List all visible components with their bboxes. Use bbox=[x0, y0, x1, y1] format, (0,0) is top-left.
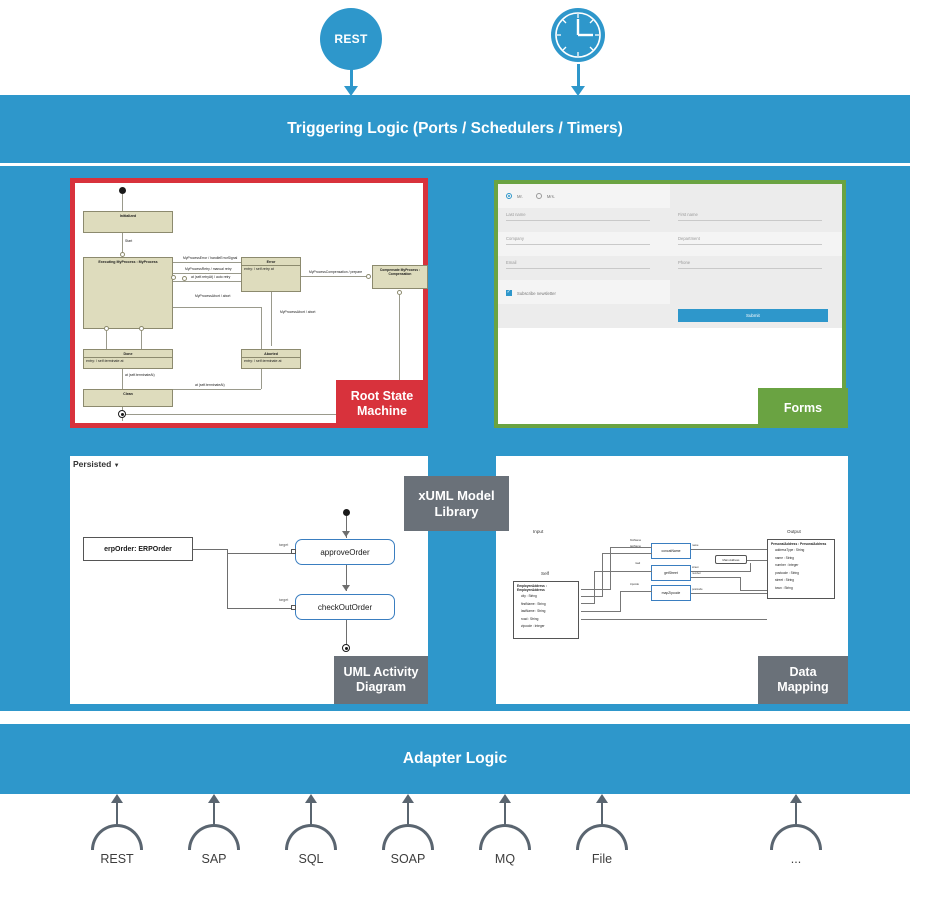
triggering-logic-band: Triggering Logic (Ports / Schedulers / T… bbox=[0, 95, 910, 163]
submit-button[interactable]: Submit bbox=[678, 309, 828, 322]
sm-edge bbox=[141, 331, 142, 349]
mapping-pin-label: lastName bbox=[630, 545, 641, 548]
activity-initial-node-icon bbox=[343, 509, 350, 516]
mapping-operation-concatname[interactable]: concatName bbox=[651, 543, 691, 559]
adapter-arc-icon bbox=[382, 824, 434, 850]
tag-uml-line2: Diagram bbox=[356, 680, 406, 694]
tag-lib-line2: Library bbox=[434, 504, 478, 519]
sm-edge bbox=[261, 307, 262, 389]
timer-trigger-arrow-icon bbox=[571, 64, 585, 96]
adapter-label: SAP bbox=[177, 852, 251, 866]
mapping-edge bbox=[620, 591, 652, 592]
activity-edge bbox=[227, 553, 293, 554]
sm-edge bbox=[173, 281, 241, 282]
sm-edge bbox=[271, 292, 272, 346]
sm-junction bbox=[366, 274, 371, 279]
sm-edge bbox=[173, 273, 241, 274]
state-done: Done entry: / self.terminate at bbox=[83, 349, 173, 369]
tag-lib-line1: xUML Model bbox=[418, 488, 494, 503]
mapping-pin-label: postcode bbox=[692, 588, 703, 591]
transition-start: Start bbox=[125, 239, 132, 243]
adapter-arc-icon bbox=[576, 824, 628, 850]
mapping-edge bbox=[691, 593, 767, 594]
adapter-arc-icon bbox=[770, 824, 822, 850]
checkbox-subscribe-label: Subscribe newsletter bbox=[517, 291, 556, 296]
mapping-output-header: Output bbox=[787, 529, 801, 534]
mapping-edge bbox=[602, 553, 652, 554]
input-pin-approveorder bbox=[291, 549, 296, 554]
activity-arrow-icon bbox=[340, 531, 352, 537]
activity-edge bbox=[227, 549, 228, 609]
data-mapping-tag: Data Mapping bbox=[758, 656, 848, 704]
transition-error: MyProcessError / handleErrorSignal bbox=[183, 256, 237, 260]
mapping-input-header: Input bbox=[533, 529, 543, 534]
adapter-arc-icon bbox=[285, 824, 337, 850]
tag-map-line2: Mapping bbox=[777, 680, 828, 694]
adapter-label: ... bbox=[759, 852, 833, 866]
transition-abort-1: MyProcessAbort / abort bbox=[195, 294, 230, 298]
mapping-self-header: Self bbox=[541, 571, 549, 576]
checkbox-subscribe-newsletter[interactable] bbox=[506, 290, 512, 296]
mapping-output-box[interactable]: PersonalAddress : PersonalAddress addres… bbox=[767, 539, 835, 599]
mapping-edge bbox=[750, 563, 751, 572]
final-node-icon bbox=[118, 410, 126, 418]
transition-compensation: MyProcessCompensation / prepare bbox=[309, 270, 362, 274]
xuml-model-library-tag: xUML Model Library bbox=[404, 476, 509, 531]
triggering-logic-title: Triggering Logic (Ports / Schedulers / T… bbox=[0, 120, 910, 138]
mapping-edge bbox=[581, 603, 595, 604]
adapter-label: SOAP bbox=[371, 852, 445, 866]
input-last-name[interactable]: Last name bbox=[506, 212, 650, 221]
radio-mr[interactable] bbox=[506, 193, 512, 199]
adapter-logic-title: Adapter Logic bbox=[0, 750, 910, 768]
rest-trigger-label: REST bbox=[334, 32, 367, 46]
mapping-edge bbox=[740, 590, 767, 591]
tag-forms-label: Forms bbox=[784, 401, 822, 416]
activity-edge bbox=[346, 620, 347, 646]
adapter-arrow-icon bbox=[789, 794, 803, 825]
tag-rsm-line2: Machine bbox=[357, 404, 407, 418]
transition-abort-2: MyProcessAbort / abort bbox=[280, 310, 315, 314]
form-row-contact: Email Phone bbox=[498, 256, 842, 280]
state-clean: Clean bbox=[83, 389, 173, 407]
root-state-machine-tag: Root State Machine bbox=[336, 380, 428, 428]
adapter-label: MQ bbox=[468, 852, 542, 866]
adapter-arrow-icon bbox=[110, 794, 124, 825]
mapping-edge bbox=[581, 589, 611, 590]
forms-tag: Forms bbox=[758, 388, 848, 428]
activity-edge bbox=[193, 549, 228, 550]
mapping-operation-main-address[interactable]: Main Address bbox=[715, 555, 747, 564]
mapping-pin-label: road bbox=[635, 562, 640, 565]
adapter-arc-icon bbox=[479, 824, 531, 850]
state-aborted: Aborted entry: / self.terminate at bbox=[241, 349, 301, 369]
sm-edge bbox=[173, 389, 261, 390]
input-department[interactable]: Department bbox=[678, 236, 822, 245]
sm-edge bbox=[301, 276, 367, 277]
mapping-edge bbox=[740, 577, 741, 591]
object-node-erporder[interactable]: erpOrder: ERPOrder bbox=[83, 537, 193, 561]
state-compensate-myprocess: Compensate MyProcess : Compensation bbox=[372, 265, 428, 289]
adapter-arrow-icon bbox=[304, 794, 318, 825]
input-pin-checkoutorder bbox=[291, 605, 296, 610]
mapping-operation-getstreet[interactable]: getStreet bbox=[651, 565, 691, 581]
adapter-logic-band: Adapter Logic bbox=[0, 724, 910, 794]
form-row-name: Last name First name bbox=[498, 208, 842, 232]
mapping-pin-label: street bbox=[692, 566, 699, 569]
action-approveorder[interactable]: approveOrder bbox=[295, 539, 395, 565]
mapping-edge bbox=[620, 591, 621, 612]
sm-edge bbox=[122, 194, 123, 211]
rest-trigger-badge[interactable]: REST bbox=[320, 8, 382, 70]
uml-activity-diagram-tag: UML Activity Diagram bbox=[334, 656, 428, 704]
transition-terminate-1: at (self.terminateAt) bbox=[125, 373, 155, 377]
adapter-row: REST SAP SQL SOAP MQ File ... bbox=[0, 794, 940, 913]
input-phone[interactable]: Phone bbox=[678, 260, 822, 269]
adapter-arc-icon bbox=[188, 824, 240, 850]
mapping-edge bbox=[581, 596, 603, 597]
mapping-edge bbox=[747, 560, 767, 561]
transition-auto-retry: at (self.retryAt) / auto retry bbox=[191, 275, 230, 279]
tag-rsm-line1: Root State bbox=[351, 389, 414, 403]
mapping-input-box[interactable]: EmployeeAddress : EmployeeAddress city :… bbox=[513, 581, 579, 639]
radio-mrs-label: Mrs. bbox=[547, 194, 555, 199]
mapping-pin-label: zipcode bbox=[630, 583, 639, 586]
tag-uml-line1: UML Activity bbox=[343, 665, 418, 679]
state-executing-myprocess: Executing MyProcess : MyProcess bbox=[83, 257, 173, 329]
chevron-down-icon[interactable]: ▼ bbox=[114, 463, 120, 469]
mapping-edge bbox=[594, 571, 595, 604]
initial-node-icon bbox=[119, 187, 126, 194]
sm-edge bbox=[173, 307, 261, 308]
adapter-arrow-icon bbox=[401, 794, 415, 825]
radio-mrs[interactable] bbox=[536, 193, 542, 199]
clock-icon bbox=[549, 6, 607, 64]
adapter-label: REST bbox=[80, 852, 154, 866]
mapping-operation-mapzipcode[interactable]: mapZipcode bbox=[651, 585, 691, 601]
form-row-company: Company Department bbox=[498, 232, 842, 256]
adapter-label: File bbox=[565, 852, 639, 866]
mapping-edge bbox=[602, 553, 603, 597]
adapter-arrow-icon bbox=[498, 794, 512, 825]
sm-edge bbox=[173, 262, 241, 263]
transition-terminate-2: at (self.terminateAt) bbox=[195, 383, 225, 387]
action-checkoutorder[interactable]: checkOutOrder bbox=[295, 594, 395, 620]
activity-final-node-icon bbox=[342, 644, 350, 652]
activity-edge bbox=[227, 608, 293, 609]
mapping-edge bbox=[581, 619, 767, 620]
tag-map-line1: Data bbox=[789, 665, 816, 679]
pin-label-target-2: target bbox=[279, 598, 288, 602]
adapter-arrow-icon bbox=[595, 794, 609, 825]
input-email[interactable]: Email bbox=[506, 260, 650, 269]
mapping-pin-label: firstName bbox=[630, 539, 641, 542]
sm-junction bbox=[171, 275, 176, 280]
state-error: Error entry: / self.retry at bbox=[241, 257, 301, 292]
form-row-salutation: Mr. Mrs. bbox=[498, 184, 842, 208]
sm-edge bbox=[122, 369, 123, 389]
activity-arrow-icon bbox=[340, 585, 352, 591]
transition-retry: MyProcessRetry / manual retry bbox=[185, 267, 232, 271]
radio-mr-label: Mr. bbox=[517, 194, 523, 199]
trigger-row: REST bbox=[0, 0, 940, 95]
pin-label-target-1: target bbox=[279, 543, 288, 547]
mapping-edge bbox=[581, 611, 621, 612]
mapping-edge bbox=[691, 577, 741, 578]
sm-edge bbox=[106, 331, 107, 349]
mapping-edge bbox=[691, 549, 767, 550]
form-row-newsletter: Subscribe newsletter bbox=[498, 280, 842, 304]
rest-trigger-arrow-icon bbox=[344, 68, 358, 96]
input-first-name[interactable]: First name bbox=[678, 212, 822, 221]
persisted-group-label: Persisted ▼ bbox=[73, 459, 120, 469]
adapter-arrow-icon bbox=[207, 794, 221, 825]
state-initialized: Initialized bbox=[83, 211, 173, 233]
mapping-pin-label: name bbox=[692, 544, 699, 547]
form-row-submit: Submit bbox=[498, 304, 842, 328]
adapter-arc-icon bbox=[91, 824, 143, 850]
input-company[interactable]: Company bbox=[506, 236, 650, 245]
mapping-edge bbox=[594, 571, 652, 572]
adapter-label: SQL bbox=[274, 852, 348, 866]
mapping-pin-label: number bbox=[692, 572, 701, 575]
